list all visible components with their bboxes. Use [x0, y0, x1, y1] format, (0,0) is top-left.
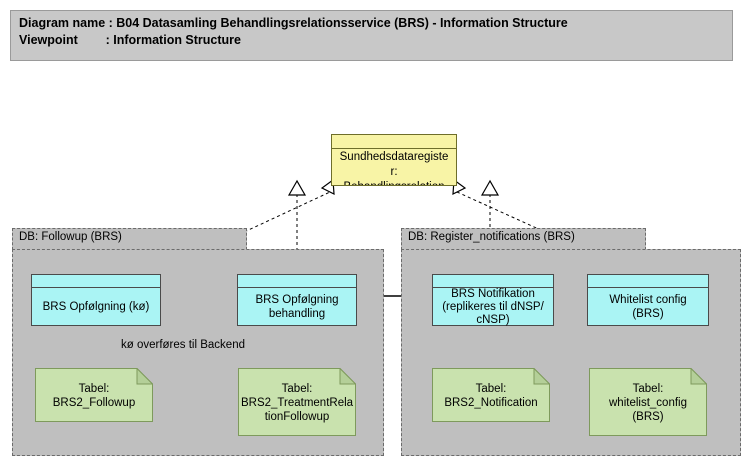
diagram-title-box: Diagram name : B04 Datasamling Behandlin… — [10, 10, 733, 61]
note-brs2-treatmentrelationfollowup[interactable]: Tabel: BRS2_TreatmentRela tionFollowup — [238, 368, 356, 436]
note-brs2-notification[interactable]: Tabel: BRS2_Notification — [432, 368, 550, 422]
edge-label-koe-overfoeres: kø overføres til Backend — [121, 339, 245, 351]
component-brs-opfoelgning-behandling-label: BRS Opfølgning behandling — [238, 288, 356, 325]
component-brs-notifikation-label: BRS Notifikation (replikeres til dNSP/ c… — [433, 288, 553, 327]
group-register-notifications-title: DB: Register_notifications (BRS) — [408, 231, 575, 243]
arrowhead-notifikation-to-dataobject — [482, 181, 498, 195]
data-object-header-strip — [332, 135, 456, 149]
component-whitelist-config[interactable]: Whitelist config (BRS) — [587, 274, 709, 326]
note-whitelist-config[interactable]: Tabel: whitelist_config (BRS) — [589, 368, 707, 436]
diagram-canvas: Diagram name : B04 Datasamling Behandlin… — [0, 0, 753, 465]
viewpoint-line: Viewpoint : Information Structure — [19, 32, 724, 49]
component-header-strip — [433, 275, 553, 288]
component-header-strip — [588, 275, 708, 288]
note-brs2-notification-label: Tabel: BRS2_Notification — [432, 368, 550, 422]
arrowhead-behandling-to-dataobject — [289, 181, 305, 195]
note-whitelist-config-label: Tabel: whitelist_config (BRS) — [589, 368, 707, 436]
data-object-behandlingsrelation[interactable]: Sundhedsdataregiste r: Behandlingsrelati… — [331, 134, 457, 186]
component-brs-opfoelgning-koe-label: BRS Opfølgning (kø) — [32, 288, 160, 325]
note-brs2-followup[interactable]: Tabel: BRS2_Followup — [35, 368, 153, 422]
component-brs-opfoelgning-behandling[interactable]: BRS Opfølgning behandling — [237, 274, 357, 326]
component-header-strip — [238, 275, 356, 288]
component-whitelist-config-label: Whitelist config (BRS) — [588, 288, 708, 325]
note-brs2-followup-label: Tabel: BRS2_Followup — [35, 368, 153, 422]
group-followup-title: DB: Followup (BRS) — [19, 231, 122, 243]
note-brs2-treatmentrelationfollowup-label: Tabel: BRS2_TreatmentRela tionFollowup — [238, 368, 356, 436]
component-brs-opfoelgning-koe[interactable]: BRS Opfølgning (kø) — [31, 274, 161, 326]
diagram-name-line: Diagram name : B04 Datasamling Behandlin… — [19, 15, 724, 32]
component-brs-notifikation[interactable]: BRS Notifikation (replikeres til dNSP/ c… — [432, 274, 554, 326]
component-header-strip — [32, 275, 160, 288]
data-object-label: Sundhedsdataregiste r: Behandlingsrelati… — [332, 149, 456, 186]
